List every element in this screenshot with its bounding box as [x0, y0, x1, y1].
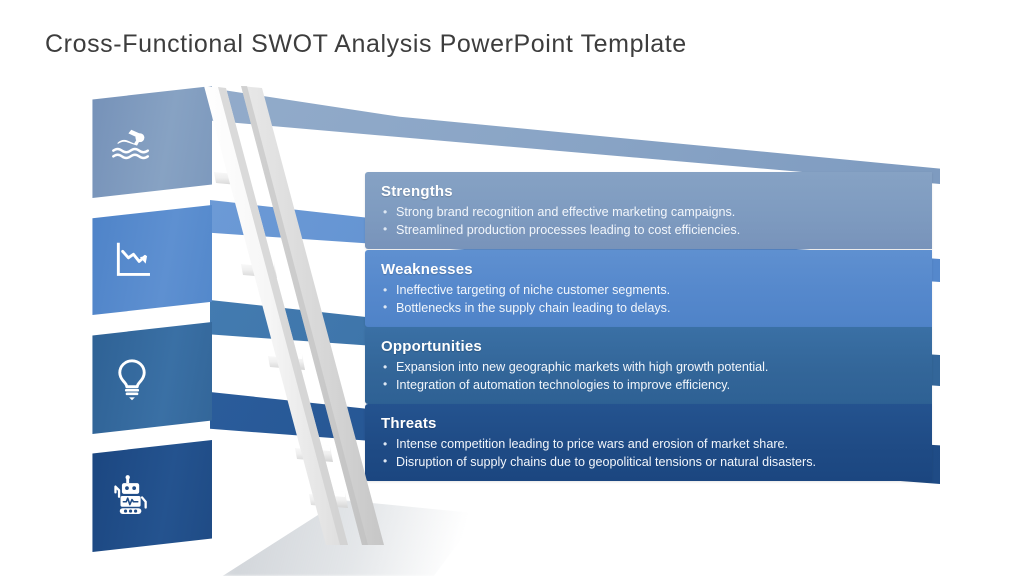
panel-bullet-list: Ineffective targeting of niche customer … — [381, 282, 916, 317]
panel-heading: Threats — [381, 415, 916, 432]
swimmer-icon — [104, 114, 160, 170]
block-weaknesses — [90, 205, 212, 315]
panel-bullet: Strong brand recognition and effective m… — [381, 204, 916, 222]
panel-bullet-list: Intense competition leading to price war… — [381, 436, 916, 471]
block-strengths — [90, 86, 212, 198]
panel-threats[interactable]: Threats Intense competition leading to p… — [365, 404, 932, 481]
panel-weaknesses[interactable]: Weaknesses Ineffective targeting of nich… — [365, 250, 932, 327]
slab-top-face — [210, 88, 940, 184]
panel-heading: Weaknesses — [381, 261, 916, 278]
panel-bullet-list: Strong brand recognition and effective m… — [381, 204, 916, 239]
panel-bullet: Disruption of supply chains due to geopo… — [381, 454, 916, 472]
panel-bullet: Streamlined production processes leading… — [381, 222, 916, 240]
robot-icon — [104, 468, 160, 524]
block-opportunities — [90, 322, 212, 434]
declining-chart-icon — [104, 232, 160, 288]
panel-heading: Opportunities — [381, 338, 916, 355]
panel-heading: Strengths — [381, 183, 916, 200]
panel-opportunities[interactable]: Opportunities Expansion into new geograp… — [365, 327, 932, 404]
panel-bullet: Expansion into new geographic markets wi… — [381, 359, 916, 377]
swot-diagram: Strengths Strong brand recognition and e… — [0, 0, 1024, 576]
panel-bullet: Integration of automation technologies t… — [381, 377, 916, 395]
panel-bullet: Intense competition leading to price war… — [381, 436, 916, 454]
panel-bullet: Ineffective targeting of niche customer … — [381, 282, 916, 300]
slab-strengths — [210, 88, 940, 184]
lightbulb-icon — [104, 350, 160, 406]
panel-strengths[interactable]: Strengths Strong brand recognition and e… — [365, 172, 932, 249]
panel-bullet-list: Expansion into new geographic markets wi… — [381, 359, 916, 394]
block-threats — [90, 440, 212, 552]
panel-bullet: Bottlenecks in the supply chain leading … — [381, 300, 916, 318]
swot-slide: Cross-Functional SWOT Analysis PowerPoin… — [0, 0, 1024, 576]
